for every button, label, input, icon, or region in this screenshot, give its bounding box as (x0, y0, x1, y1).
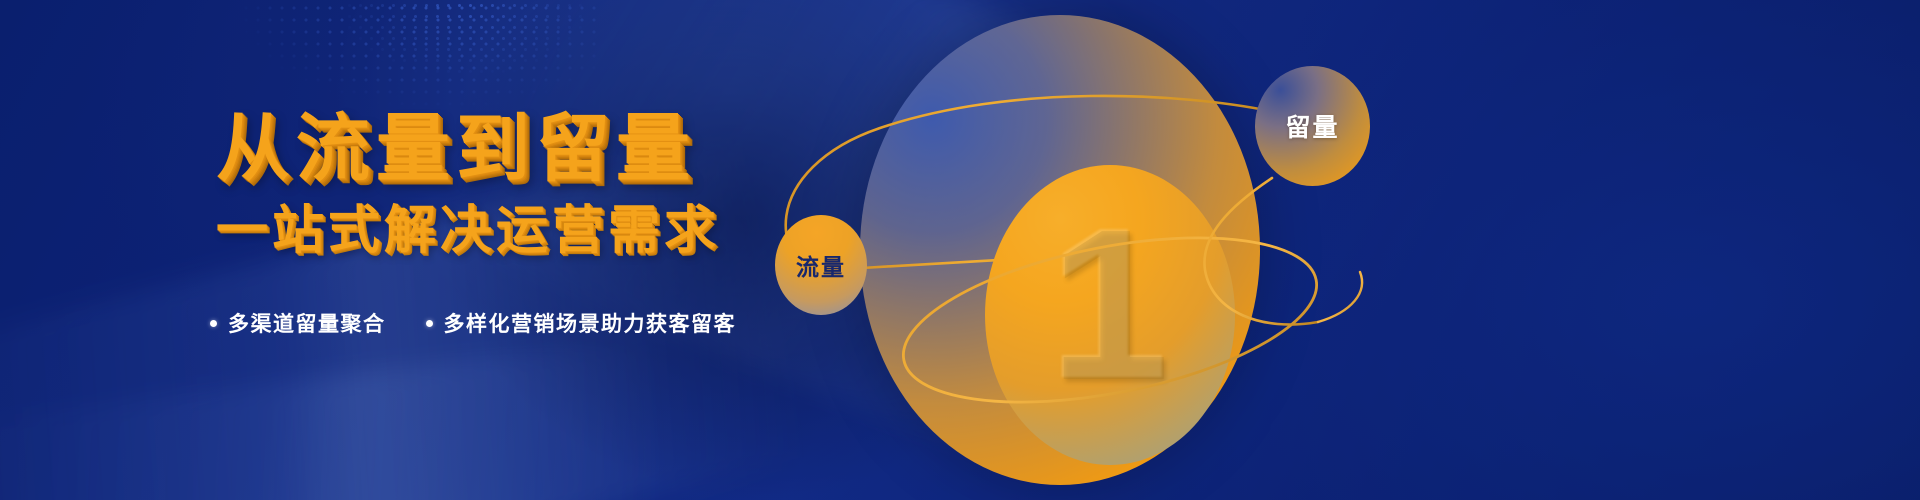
page-subtitle: 一站式解决运营需求 (216, 205, 720, 257)
node-sphere-liuliang-retain: 留量 (1255, 66, 1370, 186)
list-item: 多样化营销场景助力获客留客 (426, 308, 737, 338)
node-label-liuliang-retain: 留量 (1285, 108, 1339, 144)
bullet-dot-icon (426, 320, 433, 327)
hero-banner: 流量 留量 1 从流量到留量 一站式解决运营需求 多渠道留量聚合 (0, 0, 1920, 500)
hero-copy: 从流量到留量 一站式解决运营需求 多渠道留量聚合 多样化营销场景助力获客留客 (0, 0, 900, 500)
background-sphere (860, 15, 1260, 485)
list-item: 多渠道留量聚合 (210, 308, 386, 338)
list-item-label: 多样化营销场景助力获客留客 (444, 308, 737, 338)
list-item-label: 多渠道留量聚合 (228, 308, 386, 338)
page-title: 从流量到留量 (216, 112, 696, 186)
bullet-dot-icon (210, 320, 217, 327)
numeral-one: 1 (985, 197, 1235, 412)
foreground-sphere: 1 (985, 165, 1235, 465)
feature-bullet-list: 多渠道留量聚合 多样化营销场景助力获客留客 (210, 308, 736, 338)
